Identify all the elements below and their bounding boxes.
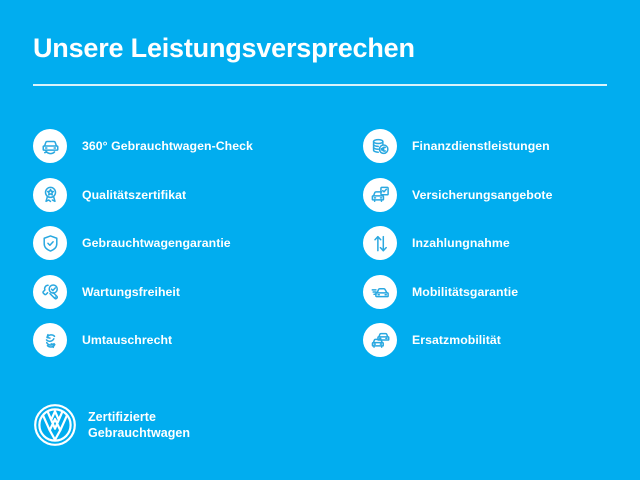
brand-text: Zertifizierte Gebrauchtwagen: [88, 409, 190, 441]
promise-item-mobilitaetsgarantie[interactable]: Mobilitätsgarantie: [363, 268, 633, 317]
coins-euro-icon: [363, 129, 397, 163]
promise-item-versicherungsangebote[interactable]: Versicherungsangebote: [363, 171, 633, 220]
promise-label: Finanzdienstleistungen: [412, 139, 550, 153]
promise-column-right: Finanzdienstleistungen Versicherungsange…: [363, 122, 633, 365]
car-document-icon: [363, 178, 397, 212]
page-title: Unsere Leistungsversprechen: [33, 33, 415, 64]
title-divider: [33, 84, 607, 86]
promise-item-finanzdienstleistungen[interactable]: Finanzdienstleistungen: [363, 122, 633, 171]
volkswagen-logo: [33, 403, 77, 447]
promise-panel: Unsere Leistungsversprechen 360° Gebrauc…: [0, 0, 640, 480]
promise-label: 360° Gebrauchtwagen-Check: [82, 139, 253, 153]
award-rosette-icon: [33, 178, 67, 212]
car-motion-icon: [363, 275, 397, 309]
promise-label: Ersatzmobilität: [412, 333, 501, 347]
car-360-check-icon: [33, 129, 67, 163]
up-down-arrows-icon: [363, 226, 397, 260]
promise-item-gebrauchtwagengarantie[interactable]: Gebrauchtwagengarantie: [33, 219, 343, 268]
brand-lockup: Zertifizierte Gebrauchtwagen: [33, 403, 190, 447]
promise-label: Versicherungsangebote: [412, 188, 552, 202]
shield-check-icon: [33, 226, 67, 260]
promise-item-gebrauchtwagen-check[interactable]: 360° Gebrauchtwagen-Check: [33, 122, 343, 171]
promise-item-ersatzmobilitaet[interactable]: Ersatzmobilität: [363, 316, 633, 365]
promise-item-umtauschrecht[interactable]: Umtauschrecht: [33, 316, 343, 365]
promise-label: Mobilitätsgarantie: [412, 285, 518, 299]
promise-item-wartungsfreiheit[interactable]: Wartungsfreiheit: [33, 268, 343, 317]
promise-item-qualitaetszertifikat[interactable]: Qualitätszertifikat: [33, 171, 343, 220]
promise-item-inzahlungnahme[interactable]: Inzahlungnahme: [363, 219, 633, 268]
two-cars-icon: [363, 323, 397, 357]
promise-label: Qualitätszertifikat: [82, 188, 186, 202]
promise-label: Inzahlungnahme: [412, 236, 510, 250]
wrench-check-icon: [33, 275, 67, 309]
brand-line-2: Gebrauchtwagen: [88, 425, 190, 441]
promise-label: Gebrauchtwagengarantie: [82, 236, 231, 250]
promise-label: Wartungsfreiheit: [82, 285, 180, 299]
brand-line-1: Zertifizierte: [88, 409, 190, 425]
exchange-arrows-icon: [33, 323, 67, 357]
promise-column-left: 360° Gebrauchtwagen-Check Qualitätszerti…: [33, 122, 343, 365]
promise-label: Umtauschrecht: [82, 333, 172, 347]
